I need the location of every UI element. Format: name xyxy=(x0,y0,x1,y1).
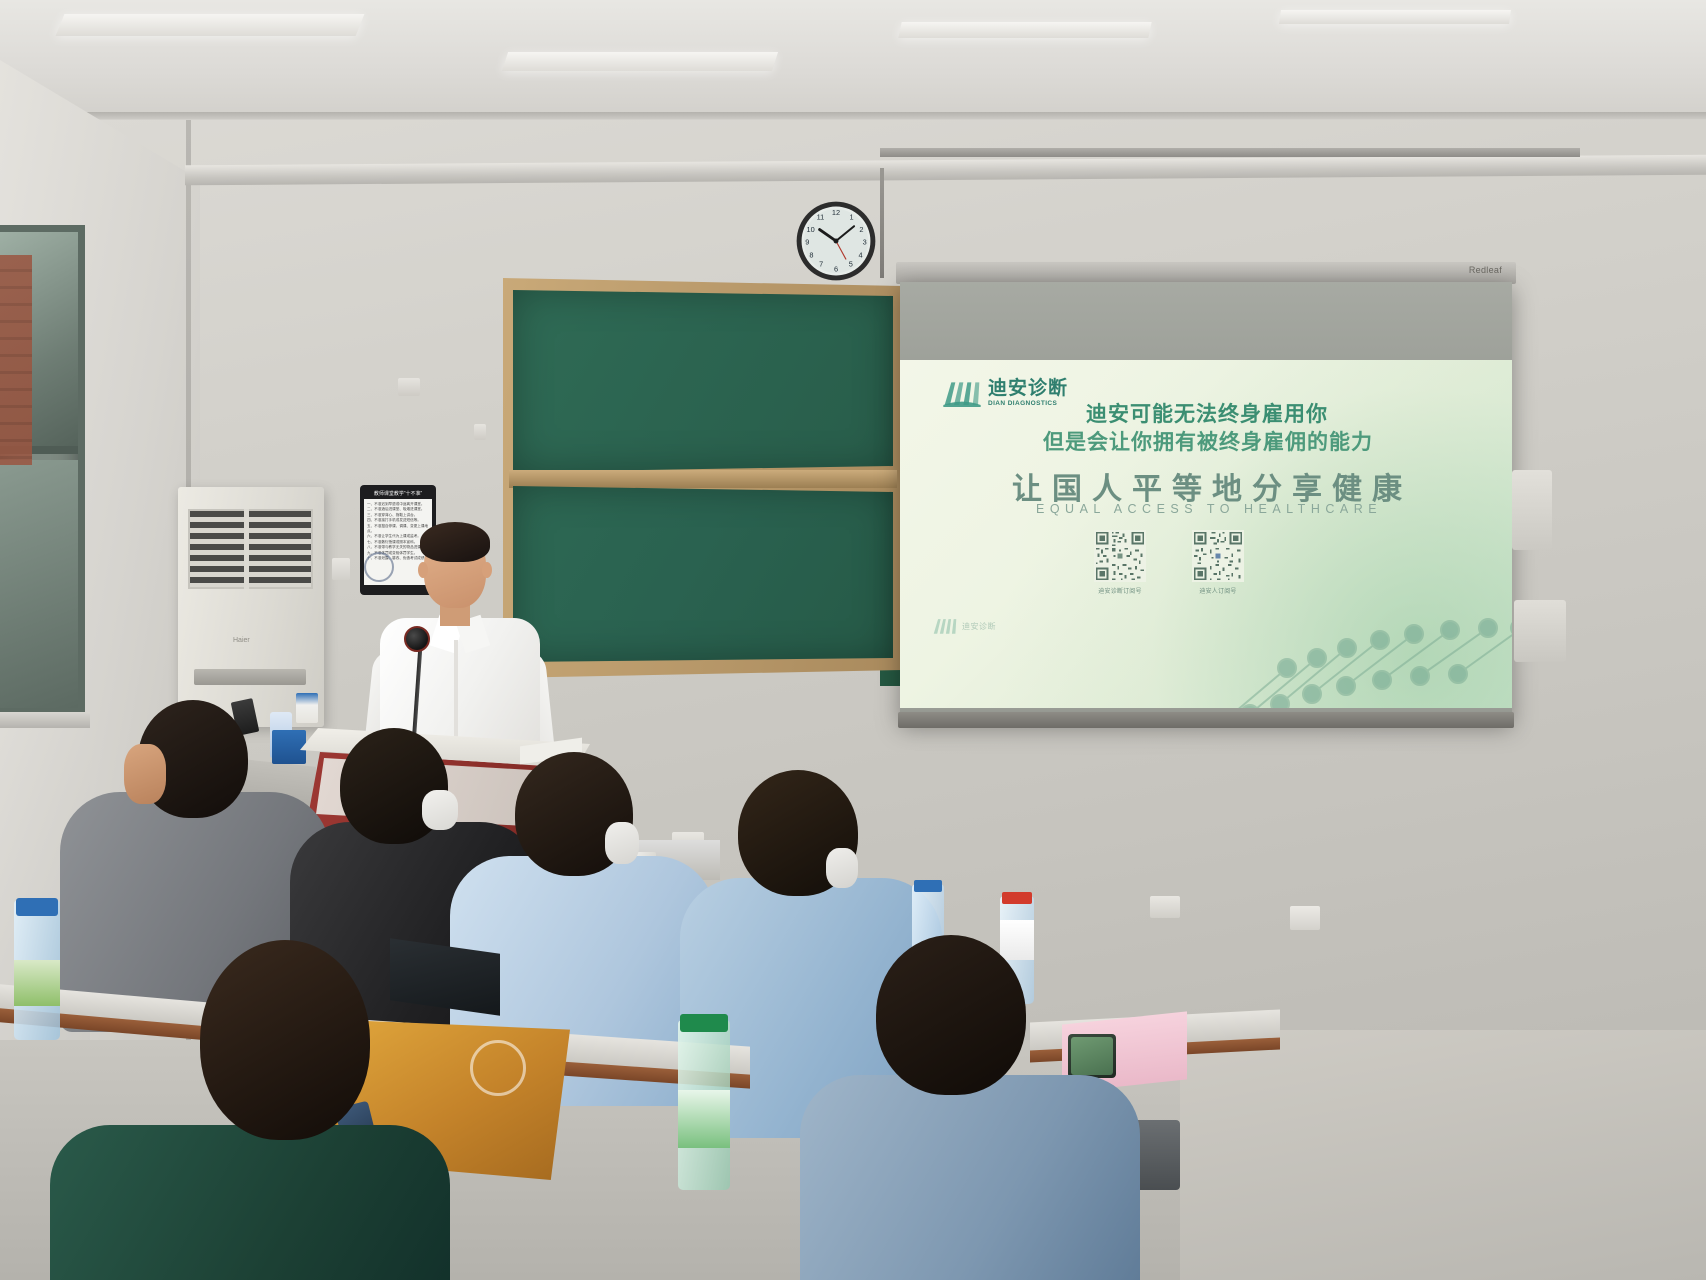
attendee-6-torso xyxy=(50,1125,450,1280)
attendee-3-face-mask xyxy=(605,822,639,864)
svg-text:5: 5 xyxy=(849,259,853,268)
screen-brand-label: Redleaf xyxy=(1469,265,1502,275)
window-pane-lower xyxy=(0,460,78,708)
svg-text:7: 7 xyxy=(819,259,823,268)
svg-text:4: 4 xyxy=(859,250,863,259)
air-conditioner-brand: Haier xyxy=(233,637,250,644)
attendee-5 xyxy=(830,935,1130,1280)
qr-code-right xyxy=(1192,530,1244,582)
svg-text:1: 1 xyxy=(850,213,854,222)
air-conditioner: Haier xyxy=(178,487,324,727)
wall-control-panel-lower[interactable] xyxy=(1514,600,1566,662)
projector-screen-weight-bar xyxy=(898,712,1514,728)
wall-control-panel[interactable] xyxy=(1512,470,1552,550)
attendee-4-face-mask xyxy=(826,848,858,888)
attendee-5-head xyxy=(876,935,1026,1095)
water-bottle-4-label xyxy=(678,1090,730,1148)
svg-text:6: 6 xyxy=(834,264,838,273)
wall-socket-d[interactable] xyxy=(1150,896,1180,918)
presenter-hair xyxy=(420,522,490,562)
wall-poster-title: 教师课堂教学“十不准” xyxy=(364,490,432,497)
screen-blank-band-top xyxy=(900,282,1512,360)
svg-text:9: 9 xyxy=(805,237,809,246)
water-bottle-4-cap xyxy=(680,1014,728,1032)
floor-right-aisle xyxy=(1180,1030,1706,1280)
water-bottle-3-cap xyxy=(1002,892,1032,904)
wall-socket-b[interactable] xyxy=(474,424,486,440)
qr-code-left xyxy=(1094,530,1146,582)
projection-screen: 迪安诊断 DIAN DIAGNOSTICS 迪安可能无法终身雇用你 但是会让你拥… xyxy=(900,282,1512,722)
svg-text:8: 8 xyxy=(809,250,813,259)
attendee-2-face-mask xyxy=(422,790,458,830)
attendee-6 xyxy=(90,940,420,1280)
ceiling-light-1 xyxy=(56,14,365,36)
qr-caption-right: 迪安人订阅号 xyxy=(1188,586,1248,595)
slide-watermark: 迪安诊断 xyxy=(932,616,996,636)
logo-chinese-name: 迪安诊断 xyxy=(988,379,1068,398)
tote-bag-emblem xyxy=(470,1040,526,1096)
watermark-logo-icon xyxy=(932,616,958,636)
water-bottle-1-cap xyxy=(16,898,58,916)
ceiling-light-4 xyxy=(1279,10,1511,24)
water-bottle-1-label xyxy=(14,960,60,1006)
screen-mounting-rail xyxy=(880,148,1580,157)
wall-socket-a[interactable] xyxy=(398,378,420,396)
slide-title-english: EQUAL ACCESS TO HEALTHCARE xyxy=(1036,502,1382,516)
svg-text:12: 12 xyxy=(832,208,840,217)
projector-screen-housing: Redleaf xyxy=(896,262,1516,284)
clock-icon: 12 1 2 3 4 5 6 7 8 9 10 11 xyxy=(795,200,877,282)
watermark-text: 迪安诊断 xyxy=(962,621,996,632)
classroom-photo-scene: 12 1 2 3 4 5 6 7 8 9 10 11 xyxy=(0,0,1706,1280)
ceiling-light-2 xyxy=(502,52,778,71)
ceiling-light-3 xyxy=(898,22,1151,38)
light-switch[interactable] xyxy=(332,558,350,580)
attendee-5-torso xyxy=(800,1075,1140,1280)
ceiling-edge xyxy=(0,112,1706,119)
svg-text:10: 10 xyxy=(806,225,814,234)
slide-brand-logo: 迪安诊断 DIAN DIAGNOSTICS xyxy=(942,378,1068,408)
chalkboard-chalk-rail xyxy=(509,470,897,488)
air-conditioner-grille-divider xyxy=(244,509,249,589)
microphone xyxy=(404,626,430,652)
presenter-ear-right xyxy=(482,562,492,578)
slide-headline-line-2: 但是会让你拥有被终身雇佣的能力 xyxy=(1043,426,1373,456)
wall-socket-e[interactable] xyxy=(1290,906,1320,930)
attendee-1-face xyxy=(124,744,166,804)
presenter-ear-left xyxy=(418,562,428,578)
wall-clock: 12 1 2 3 4 5 6 7 8 9 10 11 xyxy=(795,200,877,282)
air-conditioner-control-panel[interactable] xyxy=(194,669,306,685)
svg-text:3: 3 xyxy=(863,237,867,246)
dian-logo-icon xyxy=(942,378,982,408)
air-conditioner-grille xyxy=(188,509,313,589)
svg-text:11: 11 xyxy=(817,213,825,222)
water-bottle-2-cap xyxy=(914,880,942,892)
slide-headline-line-1: 迪安可能无法终身雇用你 xyxy=(1086,398,1328,428)
window-view-brick-building xyxy=(0,255,32,465)
presentation-slide: 迪安诊断 DIAN DIAGNOSTICS 迪安可能无法终身雇用你 但是会让你拥… xyxy=(900,360,1512,708)
chalkboard-panel-upper xyxy=(513,290,893,472)
qr-caption-left: 迪安诊断订阅号 xyxy=(1090,586,1150,595)
logo-english-name: DIAN DIAGNOSTICS xyxy=(988,401,1068,408)
screen-pull-cord xyxy=(880,168,884,278)
attendee-6-head xyxy=(200,940,370,1140)
svg-text:2: 2 xyxy=(859,225,863,234)
